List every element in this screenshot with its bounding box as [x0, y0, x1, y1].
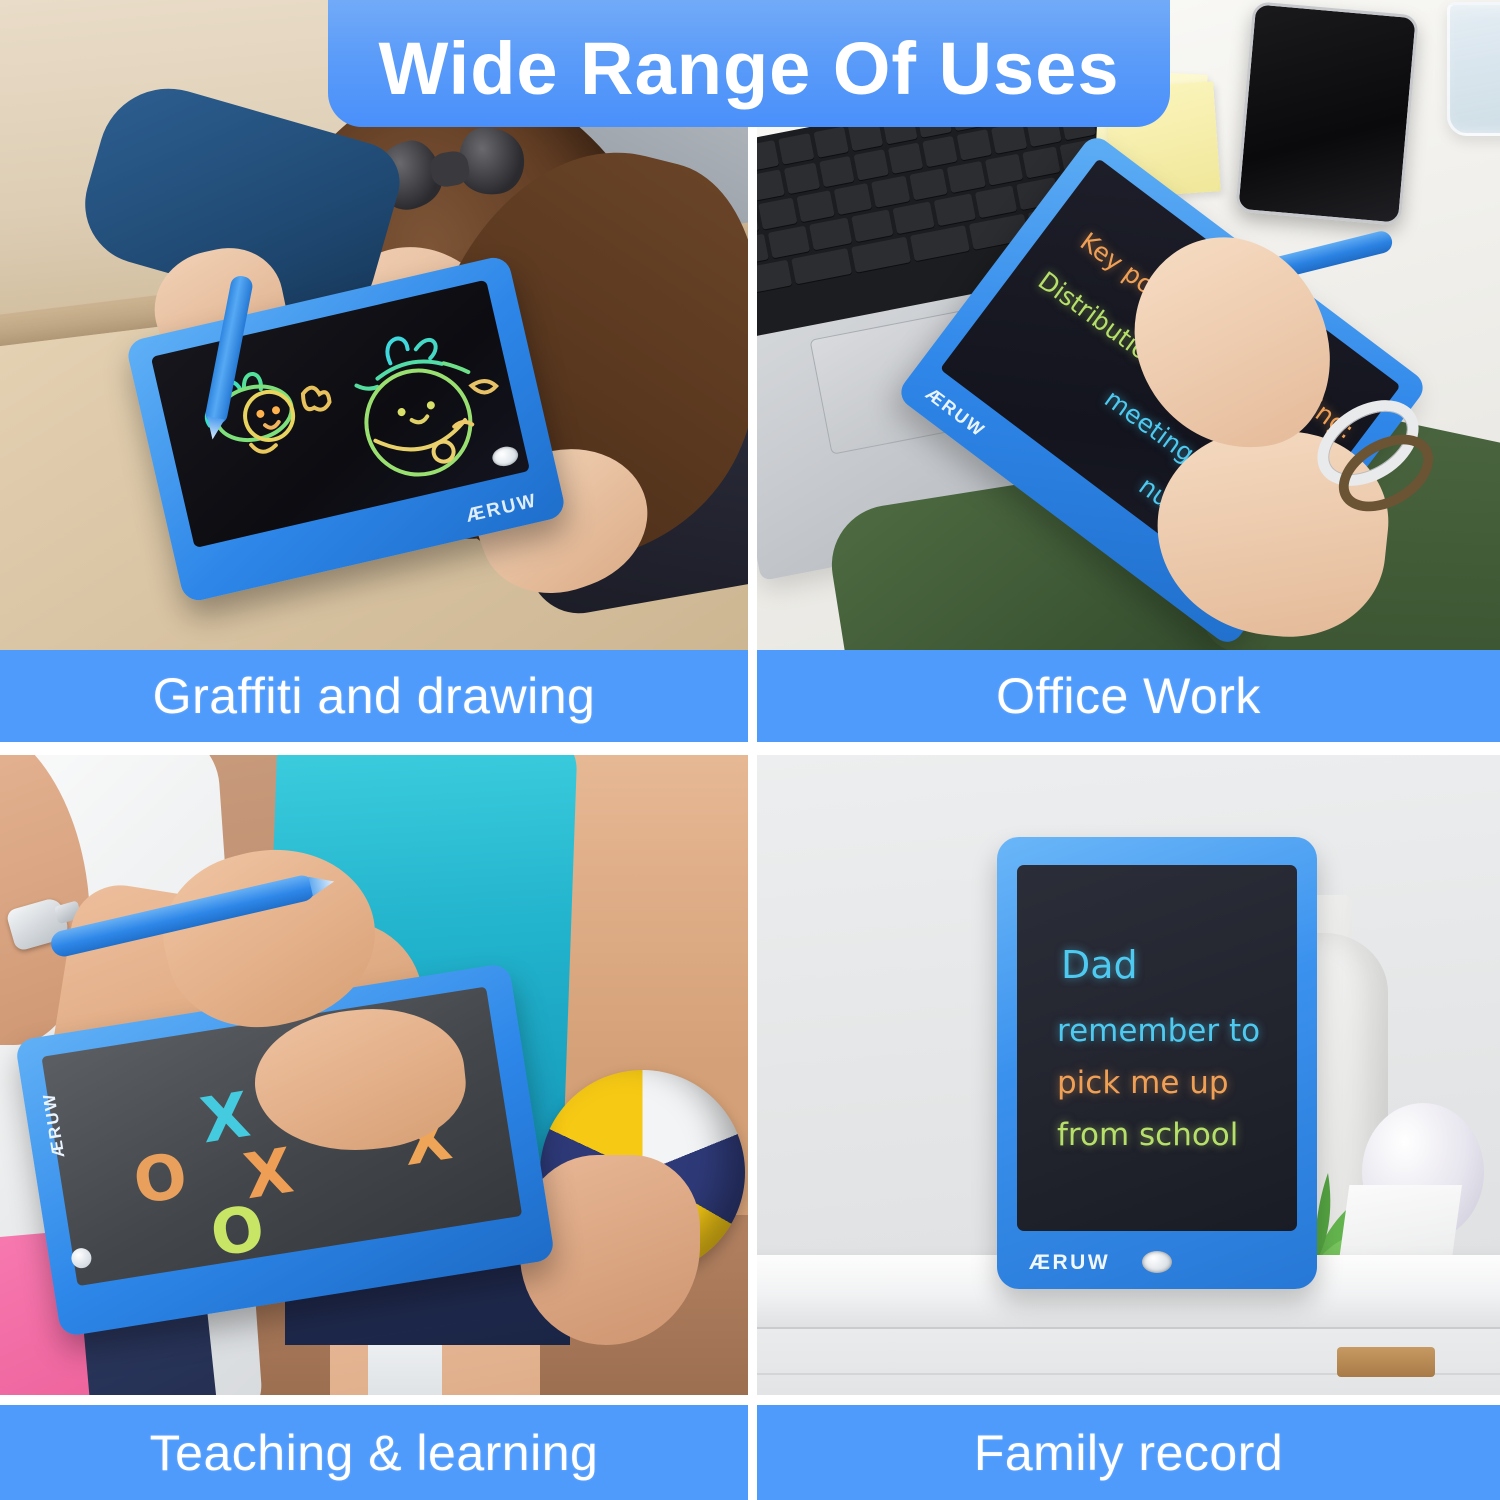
page-title: Wide Range Of Uses	[378, 32, 1119, 106]
tactic-mark: O	[207, 1197, 269, 1266]
smartphone	[1235, 1, 1419, 226]
scene-family-record: Dad remember to pick me up from school Æ…	[757, 755, 1500, 1395]
panel-family-record: Dad remember to pick me up from school Æ…	[757, 755, 1500, 1395]
brand-logo: ÆRUW	[464, 490, 539, 528]
erase-button[interactable]	[1142, 1251, 1172, 1273]
lcd-writing-tablet[interactable]: Dad remember to pick me up from school Æ…	[997, 837, 1317, 1289]
caption-label: Graffiti and drawing	[153, 667, 596, 725]
water-glass	[1447, 2, 1500, 136]
header-banner: Wide Range Of Uses	[328, 0, 1170, 127]
caption-label: Office Work	[996, 667, 1261, 725]
tablet-screen: Dad remember to pick me up from school	[1017, 865, 1297, 1231]
caption-teaching-and-learning: Teaching & learning	[0, 1405, 748, 1500]
caption-office-work: Office Work	[757, 650, 1500, 742]
note-line-2: remember to	[1057, 1013, 1260, 1049]
note-line-4: from school	[1057, 1117, 1238, 1153]
tablet-screen: X O X O X X X O	[41, 987, 522, 1287]
brand-logo: ÆRUW	[1029, 1251, 1110, 1275]
drawer-handle[interactable]	[1337, 1347, 1435, 1377]
caption-family-record: Family record	[757, 1405, 1500, 1500]
tactic-mark: O	[129, 1144, 191, 1213]
note-line-1: Dad	[1061, 943, 1138, 987]
scene-teaching-and-learning: X O X O X X X O ÆRUW	[0, 755, 748, 1395]
caption-graffiti-and-drawing: Graffiti and drawing	[0, 650, 748, 742]
caption-label: Family record	[974, 1424, 1283, 1482]
caption-label: Teaching & learning	[150, 1424, 599, 1482]
doodle-cartoon-face	[313, 306, 530, 519]
panel-teaching-and-learning: X O X O X X X O ÆRUW	[0, 755, 748, 1395]
infographic-page: ÆRUW	[0, 0, 1500, 1500]
note-line-3: pick me up	[1057, 1065, 1229, 1101]
